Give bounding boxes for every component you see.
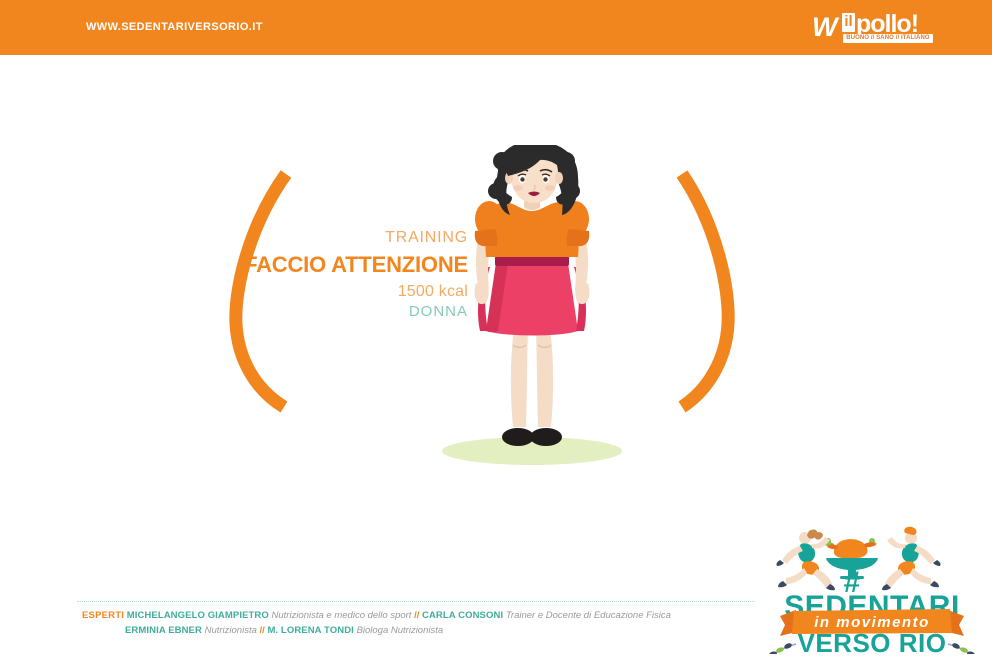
footer-divider — [77, 601, 755, 602]
footer-credits: ESPERTI MICHELANGELO GIAMPIETRO Nutrizio… — [82, 609, 722, 638]
training-label: TRAINING — [170, 228, 468, 248]
calories-label: 1500 kcal — [170, 281, 468, 302]
brand-logo-tagline-text: BUONO // SANO // ITALIANO — [843, 34, 933, 43]
brand-logo-il-text: il — [842, 12, 855, 31]
brand-logo-w-mark: W — [812, 14, 835, 41]
experts-label: ESPERTI — [82, 610, 124, 621]
poster-page: WWW.SEDENTARIVERSORIO.IT W il pollo! BUO… — [0, 0, 992, 672]
credit-separator-2: // — [260, 625, 265, 636]
expert-name-3: ERMINIA EBNER — [125, 625, 202, 636]
expert-role-3: Nutrizionista — [205, 625, 257, 636]
center-text-block: TRAINING FACCIO ATTENZIONE 1500 kcal DON… — [170, 228, 468, 322]
expert-name-1: MICHELANGELO GIAMPIETRO — [127, 610, 269, 621]
woman-runner-icon — [776, 530, 835, 591]
brand-logo-w-il-pollo[interactable]: W il pollo! BUONO // SANO // ITALIANO — [812, 11, 934, 45]
campaign-subtitle: VERSO RIO — [798, 628, 947, 654]
credit-separator-1: // — [414, 610, 419, 621]
expert-name-2: CARLA CONSONI — [422, 610, 503, 621]
campaign-logo-sedentari-verso-rio[interactable]: # SEDENTARI in movimento VERSO RIO — [760, 524, 984, 654]
headline-text: FACCIO ATTENZIONE — [170, 250, 468, 280]
expert-name-4: M. LORENA TONDI — [267, 625, 353, 636]
man-runner-icon — [882, 527, 941, 590]
woman-standing-illustration — [440, 145, 640, 475]
gender-label: DONNA — [170, 302, 468, 322]
expert-role-2: Trainer e Docente di Educazione Fisica — [506, 610, 671, 621]
expert-role-4: Biologa Nutrizionista — [357, 625, 444, 636]
close-parenthesis-icon — [670, 168, 740, 418]
expert-role-1: Nutrizionista e medico dello sport — [272, 610, 412, 621]
site-url-text: WWW.SEDENTARIVERSORIO.IT — [86, 21, 263, 33]
